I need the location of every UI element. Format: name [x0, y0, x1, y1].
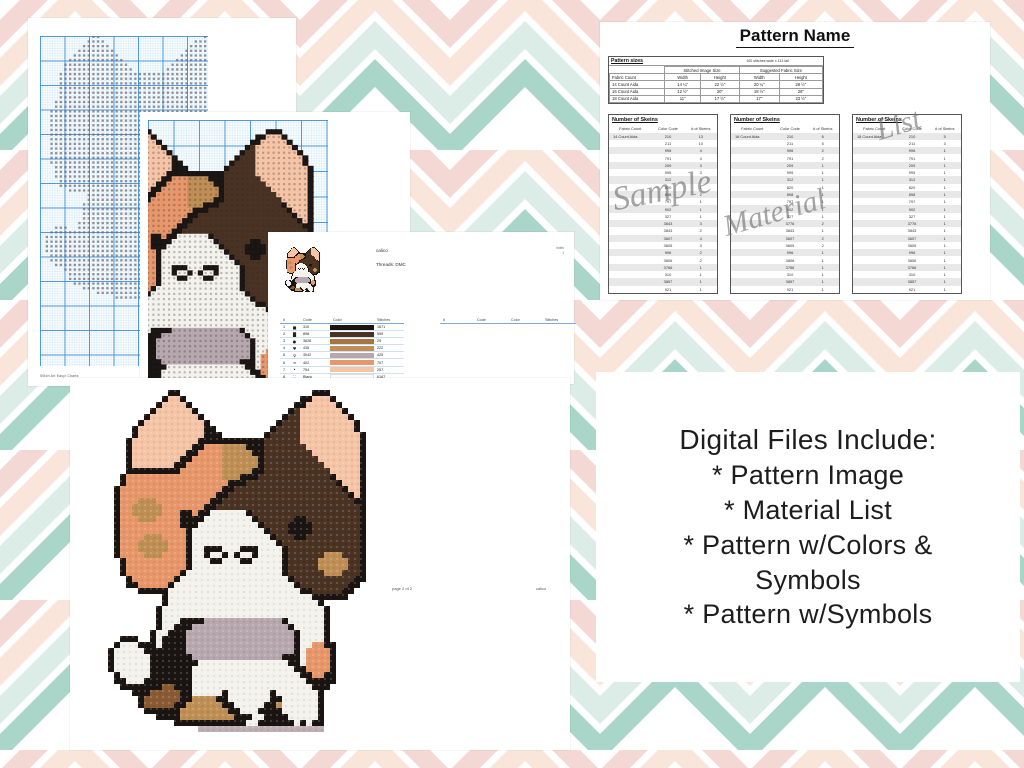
skein-table-16ct: Number of Skeins Fabric CountColor Code#… — [730, 114, 840, 294]
legend-row-stitches: 425 — [374, 352, 404, 359]
skein-fabric-count — [731, 140, 773, 147]
skein-fabric-count — [609, 169, 651, 176]
skein-count: 1 — [807, 271, 839, 278]
legend-row-stitches: 707 — [374, 359, 404, 366]
legend2-col-num: # — [440, 318, 474, 324]
sizes-row: 16 Count Aida12 ½"20"18 ½"26" — [610, 88, 823, 95]
skein-count: 1 — [685, 198, 717, 205]
skein-row: 2113 — [853, 140, 961, 147]
legend-row-symbol: █ — [289, 331, 300, 338]
skein-count: 2 — [685, 176, 717, 183]
legend-design-name: calico — [376, 248, 388, 253]
skein-count: 1 — [929, 169, 961, 176]
skein-count: 1 — [929, 278, 961, 285]
sizes-cell: 28 ½" — [779, 81, 822, 88]
skein-count: 1 — [685, 286, 717, 293]
skein-count: 1 — [929, 286, 961, 293]
skein-row: 9962 — [609, 249, 717, 256]
skein-row: 9021 — [731, 205, 839, 212]
pattern-sizes-table: Stitched Image SizeSuggested Fabric Size… — [609, 66, 823, 103]
skein-row: 37661 — [853, 264, 961, 271]
skein-count: 1 — [807, 286, 839, 293]
skein-col-0: Fabric Count — [853, 125, 895, 133]
skein-row: 8201 — [731, 184, 839, 191]
skein-color-code: 312 — [773, 176, 806, 183]
skein-count: 1 — [685, 205, 717, 212]
skein-row: 36071 — [853, 235, 961, 242]
sizes-cell: 12 ½" — [665, 88, 701, 95]
skein-count: 1 — [685, 278, 717, 285]
sizes-group-stitched: Stitched Image Size — [665, 67, 740, 74]
sizes-cell: 18 Count Aida — [610, 95, 665, 102]
skein-count: 1 — [807, 213, 839, 220]
legend2-col-color: Color — [508, 318, 542, 324]
legend-row: 1■3101671 — [280, 324, 404, 331]
sizes-row: 18 Count Aida11"17 ½"17"23 ½" — [610, 95, 823, 102]
legend-row-symbol: ♀ — [289, 352, 300, 359]
skein-count: 1 — [929, 154, 961, 161]
skein-color-code: 210 — [773, 133, 806, 140]
skein-count: 1 — [807, 278, 839, 285]
skein-row: 38431 — [731, 227, 839, 234]
skein-row: 9961 — [853, 249, 961, 256]
skein-color-code: 3806 — [773, 256, 806, 263]
legend-row-num: 5 — [280, 352, 289, 359]
skein-color-code: 3857 — [773, 278, 806, 285]
skein-color-code: 996 — [773, 249, 806, 256]
skein-fabric-count — [853, 184, 895, 191]
skein-color-code: 797 — [773, 198, 806, 205]
skein-row: 37661 — [609, 264, 717, 271]
legend-row-symbol: ♥ — [289, 345, 300, 352]
skein-count: 1 — [929, 220, 961, 227]
pattern-title-wrap: Pattern Name — [600, 22, 990, 48]
skein-fabric-count — [731, 205, 773, 212]
calico-cat-stitch-image — [90, 378, 510, 738]
skein-row: 38571 — [609, 278, 717, 285]
skein-row: 36051 — [853, 242, 961, 249]
skein-count: 1 — [685, 184, 717, 191]
legend-row-code: 436 — [300, 345, 330, 352]
skein-color-code: 327 — [895, 213, 928, 220]
skein-count: 1 — [929, 271, 961, 278]
sizes-cell: 17 ½" — [701, 95, 740, 102]
legend-sheet[interactable]: calico Threads: DMC Index1 # Code Color … — [268, 232, 574, 384]
skein-row: 3121 — [731, 176, 839, 183]
skein-count: 1 — [929, 227, 961, 234]
skein-fabric-count — [609, 242, 651, 249]
legend-row-code: 402 — [300, 359, 330, 366]
pattern-sizes-note: 100 stitches wide x 113 tall — [746, 59, 823, 63]
sizes-col-0: Fabric Count — [610, 74, 665, 81]
skein-fabric-count — [731, 256, 773, 263]
skein-color-code: 898 — [651, 191, 684, 198]
skein-color-code: 3607 — [895, 235, 928, 242]
skein-count: 1 — [929, 235, 961, 242]
skein-count: 3 — [929, 140, 961, 147]
skein-count: 1 — [929, 205, 961, 212]
skein-fabric-count — [731, 213, 773, 220]
skein-title-16ct: Number of Skeins — [731, 115, 839, 125]
skein-color-code: 3776 — [773, 220, 806, 227]
skein-row: 37762 — [731, 220, 839, 227]
skein-row: 38571 — [853, 278, 961, 285]
sizes-col-1: Width — [665, 74, 701, 81]
skein-color-code: 3806 — [895, 256, 928, 263]
skein-color-code: 209 — [651, 162, 684, 169]
skein-row: 7914 — [609, 154, 717, 161]
skein-row: 7971 — [731, 198, 839, 205]
legend-row-stitches: 257 — [374, 366, 404, 373]
skein-count: 5 — [929, 133, 961, 140]
skein-fabric-count — [609, 220, 651, 227]
sizes-cell: 23 ½" — [779, 95, 822, 102]
skein-fabric-count — [609, 191, 651, 198]
skein-color-code: 791 — [895, 154, 928, 161]
skein-fabric-count — [853, 205, 895, 212]
sizes-row: 14 Count Aida14 ¼"22 ½"20 ¼"28 ½" — [610, 81, 823, 88]
skein-color-code: 3766 — [773, 264, 806, 271]
skein-count: 1 — [929, 249, 961, 256]
skein-row: 2091 — [853, 162, 961, 169]
skein-count: 1 — [929, 191, 961, 198]
sizes-column-header-row: Fabric CountWidthHeightWidthHeight — [610, 74, 823, 81]
skein-color-code: 797 — [895, 198, 928, 205]
skein-row: 9211 — [609, 286, 717, 293]
skein-count: 1 — [807, 176, 839, 183]
skein-fabric-count — [609, 271, 651, 278]
skein-rows-16ct: Fabric CountColor Code# of Skeins16 Coun… — [731, 125, 839, 293]
skein-color-code: 209 — [773, 162, 806, 169]
skein-color-code: 921 — [895, 286, 928, 293]
skein-count: 1 — [929, 242, 961, 249]
skein-fabric-count: 18 Count Aida — [853, 133, 895, 140]
skein-color-code: 791 — [773, 154, 806, 161]
skein-count: 3 — [685, 220, 717, 227]
skein-color-code: 312 — [651, 176, 684, 183]
legend-row-code: 310 — [300, 324, 330, 331]
skein-color-code: 312 — [895, 176, 928, 183]
skein-fabric-count — [609, 227, 651, 234]
skein-table-18ct: Number of Skeins Fabric CountColor Code#… — [852, 114, 962, 294]
legend-row-code: 3042 — [300, 352, 330, 359]
skein-fabric-count — [731, 227, 773, 234]
skein-fabric-count — [853, 242, 895, 249]
skein-fabric-count — [853, 278, 895, 285]
skein-row: 7912 — [731, 154, 839, 161]
legend-row-num: 7 — [280, 366, 289, 373]
pattern-image-sheet[interactable]: page 2 of 2 calico — [70, 378, 570, 750]
skein-count: 3 — [685, 169, 717, 176]
skein-count: 1 — [685, 271, 717, 278]
skein-fabric-count — [853, 264, 895, 271]
skein-fabric-count — [609, 154, 651, 161]
legend-row-symbol: ● — [289, 338, 300, 345]
skein-row: 36052 — [731, 242, 839, 249]
skein-count: 4 — [685, 147, 717, 154]
skein-fabric-count — [731, 176, 773, 183]
skein-count: 1 — [807, 205, 839, 212]
skein-color-code: 310 — [773, 271, 806, 278]
skein-fabric-count — [853, 286, 895, 293]
skein-fabric-count — [731, 278, 773, 285]
skein-col-2: # of Skeins — [807, 125, 839, 133]
skein-row: 3101 — [731, 271, 839, 278]
skein-fabric-count — [853, 220, 895, 227]
skein-rows-14ct: Fabric CountColor Code# of Skeins14 Coun… — [609, 125, 717, 293]
skein-fabric-count — [853, 249, 895, 256]
skein-fabric-count — [731, 147, 773, 154]
skein-row: 21110 — [609, 140, 717, 147]
skein-color-code: 3857 — [651, 278, 684, 285]
skein-row: 3271 — [731, 213, 839, 220]
skein-row: 9951 — [853, 169, 961, 176]
legend-row-swatch — [330, 352, 374, 359]
sizes-cell: 18 ½" — [739, 88, 779, 95]
legend-row-stitches: 1671 — [374, 324, 404, 331]
skein-row: 3122 — [609, 176, 717, 183]
skein-count: 13 — [685, 133, 717, 140]
skein-row: 38061 — [853, 256, 961, 263]
skein-count: 1 — [685, 264, 717, 271]
legend-row-code: 754 — [300, 366, 330, 373]
skein-row: 36074 — [609, 235, 717, 242]
sizes-cell: 26" — [779, 88, 822, 95]
legend-row: 5♀3042425 — [280, 352, 404, 359]
sizes-cell: 14 ¼" — [665, 81, 701, 88]
sizes-cell: 17" — [739, 95, 779, 102]
skein-color-code: 995 — [773, 169, 806, 176]
skein-color-code: 902 — [773, 205, 806, 212]
skein-fabric-count — [609, 278, 651, 285]
skein-row: 8981 — [731, 191, 839, 198]
skein-row: 9211 — [731, 286, 839, 293]
pattern-sizes-header: Pattern sizes — [609, 57, 645, 65]
skein-color-code: 211 — [651, 140, 684, 147]
skein-fabric-count — [609, 286, 651, 293]
skein-col-1: Color Code — [895, 125, 928, 133]
skein-fabric-count — [853, 235, 895, 242]
skein-fabric-count — [609, 264, 651, 271]
pattern-title: Pattern Name — [736, 26, 855, 48]
legend-row-code: 3826 — [300, 338, 330, 345]
skein-fabric-count — [853, 271, 895, 278]
skein-color-code: 996 — [895, 147, 928, 154]
files-line-5: * Pattern w/Symbols — [684, 598, 933, 631]
legend2-header-row: # Code Color Stitches — [440, 318, 576, 324]
skein-color-code: 3857 — [895, 278, 928, 285]
skein-color-code: 3607 — [651, 235, 684, 242]
skein-color-code: 3605 — [895, 242, 928, 249]
skein-color-code: 996 — [651, 147, 684, 154]
legend2-col-stitches: Stitches — [542, 318, 576, 324]
files-line-1: * Pattern Image — [712, 459, 904, 492]
skein-count: 1 — [807, 191, 839, 198]
skein-row: 37761 — [853, 220, 961, 227]
skein-fabric-count — [731, 271, 773, 278]
material-list-sheet[interactable]: Pattern Name Pattern sizes 100 stitches … — [600, 22, 990, 300]
sizes-cell: 20" — [701, 88, 740, 95]
skein-row: 8982 — [609, 191, 717, 198]
skein-col-2: # of Skeins — [929, 125, 961, 133]
skein-color-code: 310 — [895, 271, 928, 278]
skein-color-code: 3766 — [651, 264, 684, 271]
skein-fabric-count: 16 Count Aida — [731, 133, 773, 140]
skein-fabric-count — [853, 213, 895, 220]
skein-count: 1 — [929, 198, 961, 205]
skein-row: 37661 — [731, 264, 839, 271]
skein-fabric-count — [853, 169, 895, 176]
skein-fabric-count — [731, 184, 773, 191]
skein-row: 38061 — [731, 256, 839, 263]
legend-row-swatch — [330, 359, 374, 366]
skein-count: 1 — [929, 256, 961, 263]
skein-row: 3101 — [609, 271, 717, 278]
skein-row: 2091 — [731, 162, 839, 169]
skein-count: 2 — [807, 235, 839, 242]
skein-color-code: 211 — [895, 140, 928, 147]
skein-count: 1 — [807, 184, 839, 191]
skein-col-1: Color Code — [651, 125, 684, 133]
skein-color-code: 996 — [895, 249, 928, 256]
skein-color-code: 996 — [651, 249, 684, 256]
skein-color-code: 3605 — [651, 242, 684, 249]
legend-row: 4♥436222 — [280, 345, 404, 352]
skein-count: 1 — [807, 256, 839, 263]
skein-count: 2 — [807, 154, 839, 161]
skein-fabric-count — [731, 162, 773, 169]
skein-fabric-count — [609, 162, 651, 169]
legend-row: 6∞402707 — [280, 359, 404, 366]
skein-row: 38432 — [609, 227, 717, 234]
skein-color-code: 995 — [895, 169, 928, 176]
skein-row: 3101 — [853, 271, 961, 278]
skein-count: 1 — [685, 213, 717, 220]
skein-color-code: 327 — [773, 213, 806, 220]
skein-row: 7971 — [853, 198, 961, 205]
skein-count: 1 — [929, 162, 961, 169]
skein-row: 9962 — [731, 147, 839, 154]
skein-row: 3271 — [853, 213, 961, 220]
legend-row: 7•754257 — [280, 366, 404, 373]
skein-fabric-count — [853, 191, 895, 198]
skein-row: 18 Count Aida2105 — [853, 133, 961, 140]
files-line-4: Symbols — [755, 564, 861, 597]
skein-color-code: 995 — [651, 169, 684, 176]
legend-row-stitches: 559 — [374, 331, 404, 338]
skein-row: 7911 — [853, 154, 961, 161]
legend-page-label: Index1 — [556, 246, 564, 256]
skein-row: 2093 — [609, 162, 717, 169]
skein-table-14ct: Number of Skeins Fabric CountColor Code#… — [608, 114, 718, 294]
legend-row-num: 4 — [280, 345, 289, 352]
legend-row: 2█898559 — [280, 331, 404, 338]
skein-fabric-count — [853, 154, 895, 161]
skein-row: 2115 — [731, 140, 839, 147]
cat-page-label: page 2 of 2 — [392, 586, 412, 591]
skein-fabric-count — [731, 154, 773, 161]
skein-header-row: Fabric CountColor Code# of Skeins — [731, 125, 839, 133]
skein-count: 2 — [685, 227, 717, 234]
skein-count: 3 — [685, 162, 717, 169]
skein-fabric-count — [853, 198, 895, 205]
skein-row: 38062 — [609, 256, 717, 263]
skein-col-0: Fabric Count — [609, 125, 651, 133]
skein-fabric-count — [609, 256, 651, 263]
sizes-col-3: Width — [739, 74, 779, 81]
legend-row-symbol: ∞ — [289, 359, 300, 366]
skein-count: 2 — [807, 220, 839, 227]
skein-fabric-count — [731, 242, 773, 249]
skein-rows-18ct: Fabric CountColor Code# of Skeins18 Coun… — [853, 125, 961, 293]
sizes-col-4: Height — [779, 74, 822, 81]
skein-fabric-count — [731, 169, 773, 176]
skein-color-code: 3843 — [651, 227, 684, 234]
skein-fabric-count — [731, 198, 773, 205]
legend-row-code: 898 — [300, 331, 330, 338]
skein-fabric-count — [609, 140, 651, 147]
sizes-col-2: Height — [701, 74, 740, 81]
legend-row-num: 3 — [280, 338, 289, 345]
skein-row: 9961 — [853, 147, 961, 154]
skein-count: 6 — [807, 133, 839, 140]
skein-col-2: # of Skeins — [685, 125, 717, 133]
skein-count: 2 — [807, 242, 839, 249]
skein-fabric-count — [609, 147, 651, 154]
skein-row: 38571 — [731, 278, 839, 285]
skein-count: 5 — [807, 140, 839, 147]
skein-count: 4 — [685, 235, 717, 242]
skein-row: 9211 — [853, 286, 961, 293]
skein-row: 8201 — [609, 184, 717, 191]
skein-fabric-count — [853, 227, 895, 234]
skein-col-0: Fabric Count — [731, 125, 773, 133]
skein-count: 1 — [929, 213, 961, 220]
sizes-cell: 22 ½" — [701, 81, 740, 88]
skein-row: 36053 — [609, 242, 717, 249]
skein-row: 3121 — [853, 176, 961, 183]
skein-row: 38433 — [609, 220, 717, 227]
skein-count: 1 — [929, 184, 961, 191]
skein-color-code: 902 — [895, 205, 928, 212]
legend-row-swatch — [330, 345, 374, 352]
skein-count: 1 — [807, 264, 839, 271]
sizes-group-header-row: Stitched Image SizeSuggested Fabric Size — [610, 67, 823, 74]
skein-count: 1 — [807, 227, 839, 234]
skein-title-18ct: Number of Skeins — [853, 115, 961, 125]
skein-fabric-count — [731, 286, 773, 293]
skein-color-code: 327 — [651, 213, 684, 220]
legend-row-num: 1 — [280, 324, 289, 331]
skein-row: 14 Count Aida21013 — [609, 133, 717, 140]
skein-color-code: 3607 — [773, 235, 806, 242]
skein-color-code: 996 — [773, 147, 806, 154]
cat-design-name: calico — [536, 586, 546, 591]
skein-row: 9021 — [609, 205, 717, 212]
sizes-cell: 14 Count Aida — [610, 81, 665, 88]
skein-color-code: 3843 — [895, 227, 928, 234]
skein-color-code: 310 — [651, 271, 684, 278]
skein-color-code: 3843 — [773, 227, 806, 234]
legend-threads-label: Threads: DMC — [376, 262, 406, 267]
skein-count: 2 — [685, 256, 717, 263]
skein-fabric-count — [853, 140, 895, 147]
skein-count: 3 — [685, 242, 717, 249]
skein-row: 16 Count Aida2106 — [731, 133, 839, 140]
skein-count: 1 — [807, 249, 839, 256]
legend-row-symbol: • — [289, 366, 300, 373]
skein-color-code: 3806 — [651, 256, 684, 263]
